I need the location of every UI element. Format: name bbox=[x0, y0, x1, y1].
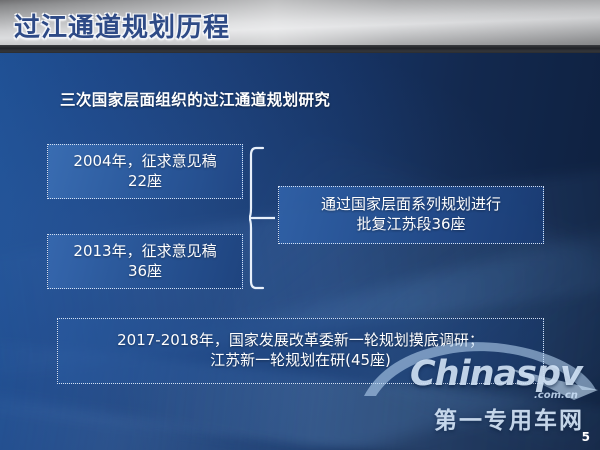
background-streak-4 bbox=[0, 383, 334, 450]
milestone-box-2017-2018: 2017-2018年，国家发展改革委新一轮规划摸底调研； 江苏新一轮规划在研(4… bbox=[57, 318, 544, 384]
watermark-brand-cn: 第一专用车网 bbox=[434, 401, 584, 435]
background-streak-5 bbox=[225, 133, 600, 450]
milestone-box-2013-line2: 36座 bbox=[128, 262, 162, 282]
milestone-box-2004: 2004年，征求意见稿 22座 bbox=[47, 144, 243, 199]
result-box-line1: 通过国家层面系列规划进行 bbox=[321, 195, 501, 215]
watermark-domain: .com.cn bbox=[534, 390, 578, 401]
result-box-line2: 批复江苏段36座 bbox=[356, 215, 465, 235]
slide: 过江通道规划历程 三次国家层面组织的过江通道规划研究 2004年，征求意见稿 2… bbox=[0, 0, 600, 450]
milestone-box-2004-line2: 22座 bbox=[128, 172, 162, 192]
result-box: 通过国家层面系列规划进行 批复江苏段36座 bbox=[278, 186, 544, 244]
milestone-box-2004-line1: 2004年，征求意见稿 bbox=[73, 152, 216, 172]
milestone-box-2013-line1: 2013年，征求意见稿 bbox=[73, 242, 216, 262]
slide-body: 三次国家层面组织的过江通道规划研究 2004年，征求意见稿 22座 2013年，… bbox=[0, 53, 600, 450]
milestone-box-2017-2018-line2: 江苏新一轮规划在研(45座) bbox=[210, 351, 391, 371]
page-number: 5 bbox=[582, 430, 590, 444]
curly-brace-connector-icon bbox=[249, 146, 275, 290]
milestone-box-2013: 2013年，征求意见稿 36座 bbox=[47, 234, 243, 289]
section-subtitle: 三次国家层面组织的过江通道规划研究 bbox=[60, 88, 330, 110]
slide-title-bar: 过江通道规划历程 bbox=[0, 0, 600, 53]
milestone-box-2017-2018-line1: 2017-2018年，国家发展改革委新一轮规划摸底调研； bbox=[117, 331, 484, 351]
page-title: 过江通道规划历程 bbox=[14, 7, 230, 44]
